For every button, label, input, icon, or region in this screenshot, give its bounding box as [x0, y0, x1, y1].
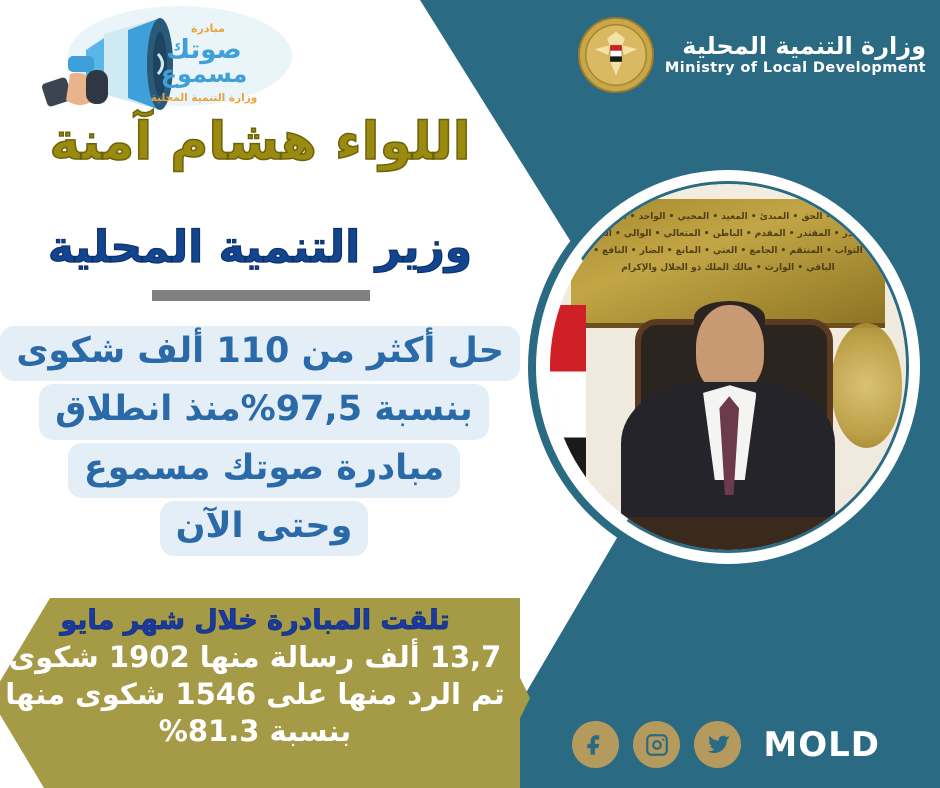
minister-role: وزير التنمية المحلية: [0, 222, 520, 273]
egypt-eagle-emblem-icon: [577, 16, 655, 94]
initiative-logo: مبادرة صوتك مسموع وزارة التنمية المحلية: [8, 4, 298, 124]
mold-handle: MOLD: [763, 725, 880, 765]
minister-name: اللواء هشام آمنة: [0, 112, 520, 172]
statement-line: حل أكثر من 110 ألف شكوى: [0, 326, 520, 381]
portrait-white-ring: [536, 170, 920, 564]
minister-portrait: الشهيد • الحق • المبدئ • المعيد • المحيي…: [528, 162, 928, 572]
instagram-icon[interactable]: [633, 721, 680, 768]
main-statement: حل أكثر من 110 ألف شكوى بنسبة 97,5%منذ ا…: [8, 326, 520, 559]
ministry-header: وزارة التنمية المحلية Ministry of Local …: [577, 16, 926, 94]
svg-text:وزارة التنمية المحلية: وزارة التنمية المحلية: [151, 92, 258, 104]
svg-text:مبادرة: مبادرة: [191, 22, 225, 35]
statement-line: مبادرة صوتك مسموع: [68, 443, 460, 498]
ministry-name-ar: وزارة التنمية المحلية: [665, 33, 926, 61]
stats-heading: تلقت المبادرة خلال شهر مايو: [0, 604, 520, 639]
statement-line: بنسبة 97,5%منذ انطلاق: [39, 384, 489, 439]
stats-line: تم الرد منها على 1546 شكوى منها: [0, 676, 520, 713]
stats-line: 13,7 ألف رسالة منها 1902 شكوى: [0, 639, 520, 676]
social-footer: MOLD: [572, 721, 880, 768]
twitter-icon[interactable]: [694, 721, 741, 768]
megaphone-icon: مبادرة صوتك مسموع وزارة التنمية المحلية: [8, 4, 298, 124]
stats-hexagon: تلقت المبادرة خلال شهر مايو 13,7 ألف رسا…: [0, 598, 520, 788]
svg-text:مسموع: مسموع: [161, 60, 248, 88]
statement-line: وحتى الآن: [160, 501, 369, 556]
ministry-titles: وزارة التنمية المحلية Ministry of Local …: [665, 33, 926, 77]
role-underline-bar: [152, 290, 370, 301]
infographic-poster: مبادرة صوتك مسموع وزارة التنمية المحلية …: [0, 0, 940, 788]
ministry-name-en: Ministry of Local Development: [665, 60, 926, 77]
stats-line: بنسبة 81.3%: [0, 713, 520, 750]
facebook-icon[interactable]: [572, 721, 619, 768]
